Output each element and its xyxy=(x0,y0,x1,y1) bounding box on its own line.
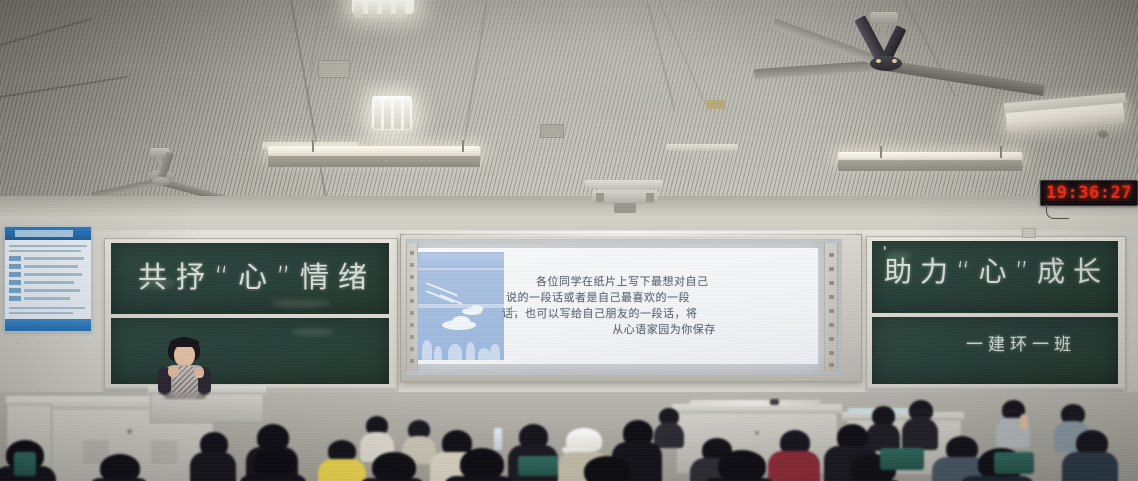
plant-shape xyxy=(478,348,490,360)
chalk-tray-right xyxy=(868,385,1122,390)
poster-row-chip xyxy=(9,288,21,293)
poster-row-chip xyxy=(9,296,21,301)
iwb-cursor-crosshair xyxy=(506,306,517,317)
toolbar-icon[interactable] xyxy=(410,323,414,327)
wall-notice-board xyxy=(4,226,92,332)
window-header-band xyxy=(420,254,504,268)
student xyxy=(238,448,308,481)
plant-shape xyxy=(490,344,500,360)
slide-text-line-1: 各位同学在纸片上写下最想对自己 xyxy=(514,274,814,290)
ceiling-fan-right xyxy=(760,12,1060,102)
plant-shape xyxy=(434,346,442,360)
toolbar-icon[interactable] xyxy=(829,281,834,285)
clock-time-text: 19:36:27 xyxy=(1046,183,1132,203)
cabinet-knob[interactable] xyxy=(755,431,759,435)
student-hair xyxy=(584,456,630,481)
fan-blade xyxy=(754,60,886,79)
student xyxy=(86,454,152,481)
toolbar-icon[interactable] xyxy=(410,299,414,303)
iwb-toolbar-right[interactable] xyxy=(824,243,838,371)
ceiling-vent xyxy=(540,124,564,138)
student xyxy=(442,448,516,481)
wall-switch-plate[interactable] xyxy=(1022,228,1036,238)
iwb-toolbar-left[interactable] xyxy=(406,243,418,371)
toolbar-icon[interactable] xyxy=(410,251,414,255)
projector-vent xyxy=(596,193,604,202)
poster-text-line xyxy=(9,307,85,309)
fan-hub xyxy=(152,177,170,186)
poster-row-chip xyxy=(9,280,21,285)
iwb-top-glare xyxy=(404,231,856,236)
cloud-shape xyxy=(452,316,470,326)
pendant-light-fin xyxy=(394,99,401,129)
student xyxy=(566,456,642,481)
pendant-light-fin xyxy=(382,0,391,18)
classroom-chair xyxy=(994,452,1034,474)
interactive-whiteboard-surface[interactable]: 各位同学在纸片上写下最想对自己 说的一段话或者是自己最喜欢的一段 话，也可以写给… xyxy=(406,239,842,375)
teacher xyxy=(150,337,222,399)
student-arm xyxy=(1020,414,1028,430)
clock-power-wire xyxy=(1046,204,1069,219)
pendant-light-fin xyxy=(396,0,405,18)
teacher-bangs xyxy=(170,338,199,347)
cabinet-knob[interactable] xyxy=(127,429,132,434)
slide-text-line-4: 从心语家园为你保存 xyxy=(514,322,814,338)
ceiling-fan-left xyxy=(100,148,280,198)
student-body xyxy=(1062,452,1118,481)
student-hair xyxy=(100,454,140,481)
classroom-chair xyxy=(14,452,36,476)
poster-text-line xyxy=(9,245,87,247)
student xyxy=(1062,430,1118,481)
projector-lens xyxy=(614,203,636,213)
slide-window-illustration xyxy=(418,252,504,360)
pendant-light-fin xyxy=(384,99,391,129)
student-body xyxy=(190,452,236,481)
toolbar-icon[interactable] xyxy=(829,337,834,341)
toolbar-icon[interactable] xyxy=(829,309,834,313)
blackboard-right-title: 助力“心”成长 xyxy=(884,250,1109,290)
fan-light-glint xyxy=(892,59,897,63)
poster-row-chip xyxy=(9,264,21,269)
light-bar-housing xyxy=(268,156,480,167)
cloud-shape xyxy=(470,305,483,313)
toolbar-icon[interactable] xyxy=(829,363,834,367)
poster-text-line xyxy=(9,250,81,252)
toolbar-icon[interactable] xyxy=(410,347,414,351)
pendant-light-fin xyxy=(374,99,381,129)
projector-vent xyxy=(646,193,654,202)
chalk-dust xyxy=(271,299,331,308)
recessed-strip-light xyxy=(666,144,738,151)
light-bar-hanger xyxy=(462,140,464,152)
teacher-face xyxy=(174,344,195,367)
lab-bench-items xyxy=(690,400,820,406)
led-wall-clock: 19:36:27 xyxy=(1040,180,1138,206)
blackboard-left-text: 共抒“心”情绪 xyxy=(138,254,376,296)
poster-title-blur xyxy=(15,230,73,237)
projected-slide: 各位同学在纸片上写下最想对自己 说的一段话或者是自己最喜欢的一段 话，也可以写给… xyxy=(418,248,818,364)
plant-shape xyxy=(466,342,475,360)
fan-light-glint xyxy=(876,59,881,63)
toolbar-icon[interactable] xyxy=(410,287,414,291)
toolbar-icon[interactable] xyxy=(829,323,834,327)
window-mullion xyxy=(418,268,504,270)
pendant-light-fin xyxy=(404,99,410,129)
poster-text-line xyxy=(24,297,70,300)
poster-text-line xyxy=(24,265,78,268)
light-bar-housing xyxy=(838,160,1022,171)
toolbar-icon[interactable] xyxy=(829,267,834,271)
cabinet-vent xyxy=(151,441,177,463)
fan-blade xyxy=(885,60,1045,96)
toolbar-icon[interactable] xyxy=(410,275,414,279)
student-hair xyxy=(718,450,766,481)
slide-text-line-3: 话，也可以写给自己朋友的一段话，将 xyxy=(502,306,818,322)
ceiling-vent xyxy=(706,100,726,109)
classroom-photo: 19:36:27 共抒“心”情绪 助力“心”成长 ’ xyxy=(0,0,1138,481)
poster-text-line xyxy=(24,273,82,276)
student-body xyxy=(958,476,1036,481)
student-body xyxy=(238,474,308,481)
toolbar-icon[interactable] xyxy=(829,351,834,355)
poster-text-line xyxy=(24,257,84,260)
ceiling-vent xyxy=(318,60,350,78)
pendant-light-fin xyxy=(354,0,363,18)
plant-shape xyxy=(448,344,462,360)
student-hair xyxy=(372,452,416,481)
pendant-light-fin xyxy=(368,0,377,18)
light-bar-hanger xyxy=(1000,146,1002,158)
poster-text-line xyxy=(9,312,73,314)
slide-text-line-2: 说的一段话或者是自己最喜欢的一段 xyxy=(506,290,818,306)
poster-footer-bar xyxy=(5,319,91,331)
classroom-chair xyxy=(880,448,924,470)
toolbar-icon[interactable] xyxy=(410,359,414,363)
teacher-hand-right xyxy=(194,367,204,378)
poster-text-line xyxy=(24,281,74,284)
light-bar-hanger xyxy=(880,146,882,158)
toolbar-icon[interactable] xyxy=(410,335,414,339)
blackboard-right-subtitle: 一建环一班 xyxy=(966,330,1076,355)
bench-object-dark xyxy=(770,399,779,405)
toolbar-icon[interactable] xyxy=(410,263,414,267)
poster-row-chip xyxy=(9,256,21,261)
student xyxy=(190,432,236,481)
student-glasses xyxy=(912,411,930,418)
student-body xyxy=(442,476,516,481)
classroom-chair xyxy=(518,456,558,476)
toolbar-icon[interactable] xyxy=(829,253,834,257)
plant-shape xyxy=(422,340,432,360)
chalk-dust xyxy=(291,328,335,336)
water-bottle xyxy=(494,428,502,450)
teacher-hand-left xyxy=(168,366,179,377)
poster-text-line xyxy=(24,289,80,292)
student xyxy=(996,400,1030,448)
toolbar-icon[interactable] xyxy=(829,295,834,299)
light-bar-hanger xyxy=(312,140,314,152)
student xyxy=(356,452,428,481)
ceiling-smoke-detector xyxy=(1098,130,1108,138)
fan-hub xyxy=(870,56,902,71)
student xyxy=(700,450,778,481)
poster-row-chip xyxy=(9,272,21,277)
toolbar-icon[interactable] xyxy=(410,311,414,315)
